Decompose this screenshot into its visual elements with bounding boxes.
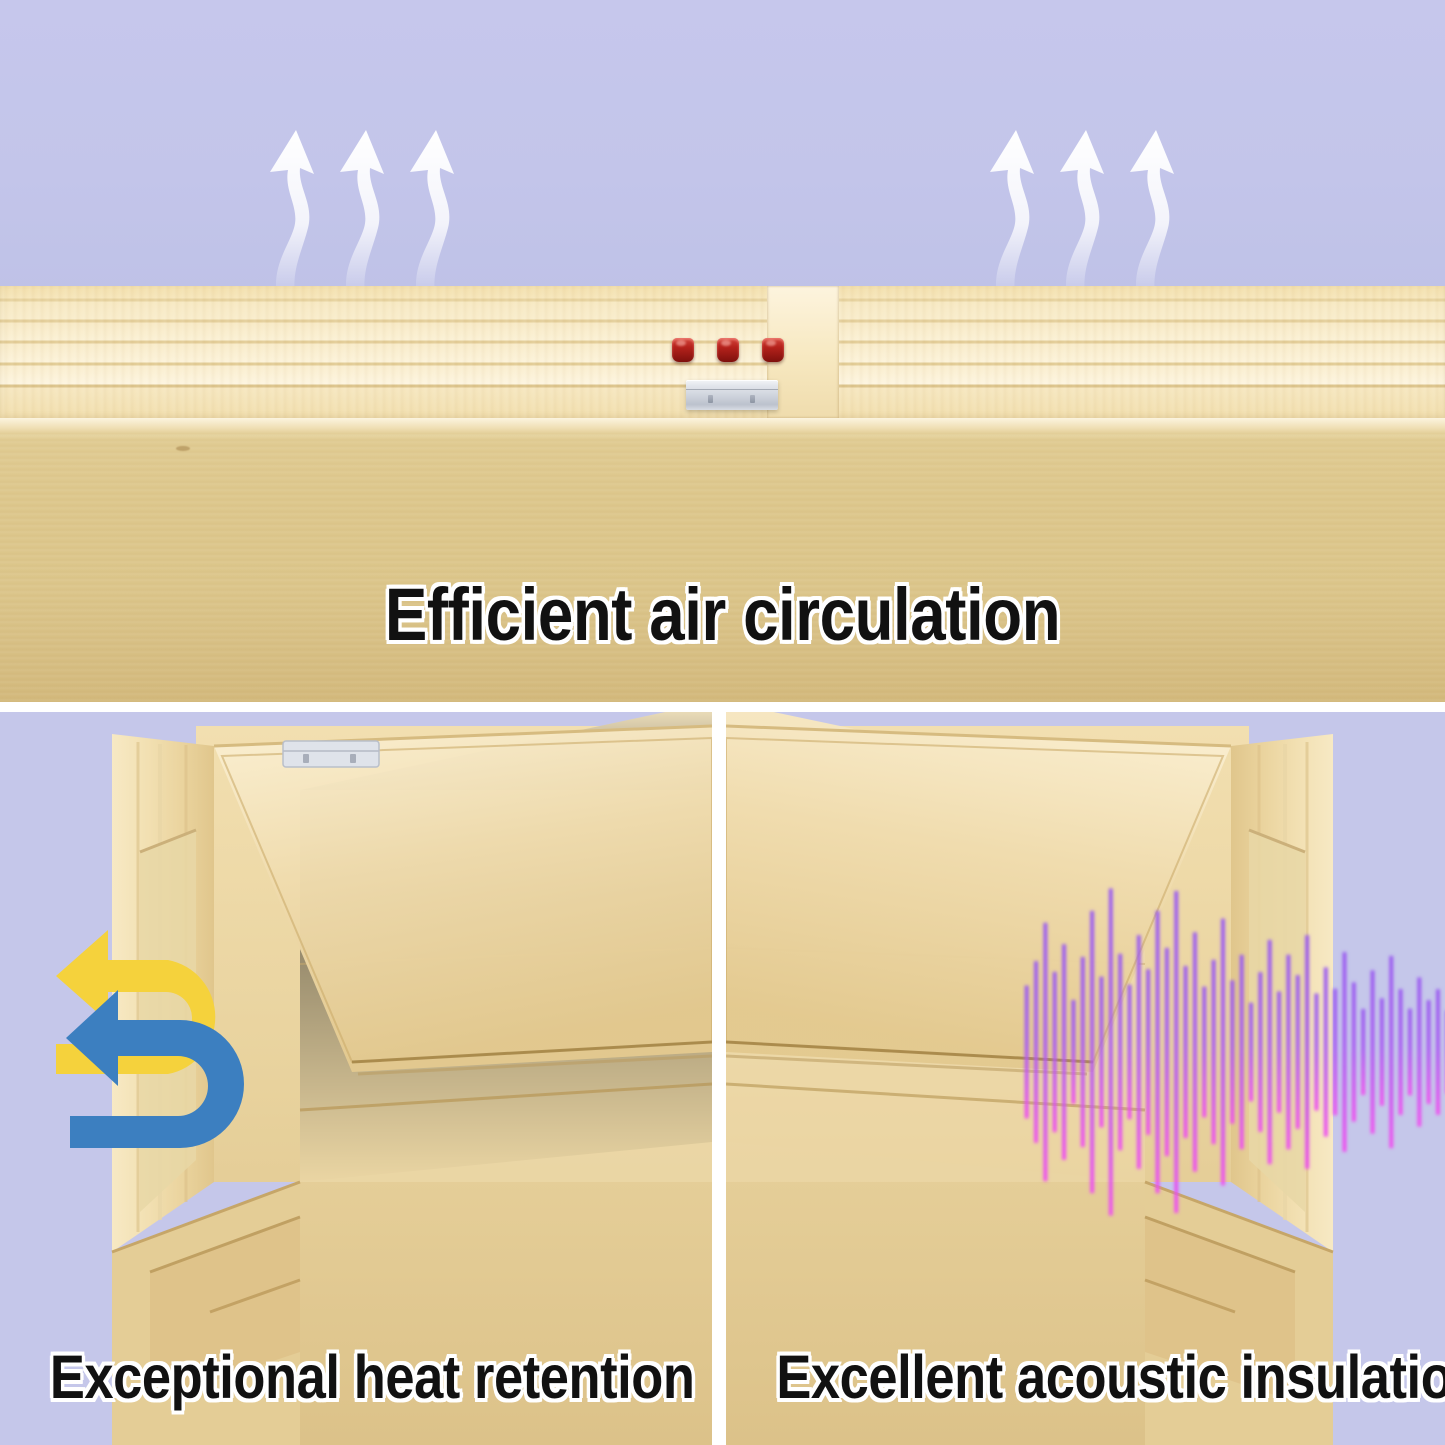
sound-wave-bar — [1109, 888, 1113, 1215]
wood-knot-mark — [176, 446, 190, 451]
sound-wave-bar — [1305, 935, 1309, 1169]
sound-wave-bar — [1240, 955, 1244, 1149]
red-led-indicator — [672, 338, 694, 362]
sound-wave-bar — [1258, 972, 1262, 1132]
sound-wave-bar — [1081, 957, 1085, 1147]
sound-wave-bar — [1090, 911, 1094, 1193]
sound-wave-bar — [1352, 982, 1356, 1121]
sound-wave-bar — [1427, 1000, 1431, 1104]
sound-wave-bar — [1408, 1009, 1412, 1096]
sound-wave-bar — [1417, 977, 1421, 1126]
bracket-screw — [708, 395, 713, 403]
sound-wave-bar — [1286, 955, 1290, 1150]
rising-air-arrows-right — [972, 96, 1222, 301]
sound-wave-bar — [1062, 944, 1066, 1160]
sound-wave-bar — [1193, 932, 1197, 1171]
sound-wave-bar — [1399, 989, 1403, 1115]
sound-wave-bar — [1043, 923, 1047, 1181]
sound-wave-bar — [1137, 935, 1141, 1169]
metal-bracket-plate — [283, 741, 379, 767]
sound-wave-bar — [1156, 911, 1160, 1193]
sound-wave-bar — [1118, 954, 1122, 1150]
sound-wave-bar — [1371, 970, 1375, 1133]
sound-wave-bar — [1212, 960, 1216, 1144]
sound-wave-bar — [1268, 940, 1272, 1164]
circulating-heat-arrows — [48, 908, 288, 1168]
sound-wave-bar — [1221, 919, 1225, 1186]
sound-wave-bar — [1277, 991, 1281, 1112]
sound-wave-bar — [1343, 952, 1347, 1152]
sound-wave-bar — [1034, 961, 1038, 1143]
sound-wave-bar — [1389, 956, 1393, 1148]
caption-acoustic-insulation: Excellent acoustic insulation — [776, 1347, 1394, 1408]
sound-wave-bar — [1025, 986, 1029, 1119]
panel-divider-vertical — [712, 702, 726, 1445]
rising-air-arrows-left — [252, 96, 502, 301]
sound-wave-bar — [1099, 977, 1103, 1128]
sound-wave-bar — [1128, 985, 1132, 1120]
sound-wave-bar — [1165, 948, 1169, 1156]
red-led-indicators — [672, 338, 792, 364]
cabinet-front-face — [0, 418, 1445, 702]
panel-heat-retention — [0, 712, 712, 1445]
sound-wave-bar — [1230, 980, 1234, 1123]
sound-wave-bar — [1314, 993, 1318, 1110]
sound-wave-bar — [1146, 969, 1150, 1135]
sound-wave-bar — [1249, 1003, 1253, 1102]
panel-background — [0, 0, 1445, 292]
cabinet-front-top-edge — [0, 418, 1445, 434]
metal-bracket-plate — [686, 380, 778, 410]
infographic-canvas: Efficient air circulation — [0, 0, 1445, 1445]
panel-acoustic-insulation — [726, 712, 1445, 1445]
sound-wave-bar — [1184, 966, 1188, 1138]
sound-wave-bars — [1022, 862, 1445, 1242]
bracket-screw — [750, 395, 755, 403]
sound-wave-bar — [1202, 987, 1206, 1118]
sound-wave-bar — [1071, 1000, 1075, 1104]
sound-wave-bar — [1436, 989, 1440, 1115]
caption-air-circulation: Efficient air circulation — [101, 578, 1344, 652]
sound-wave-bar — [1380, 998, 1384, 1105]
sound-wave-bar — [1361, 1009, 1365, 1095]
red-led-indicator — [762, 338, 784, 362]
sound-wave-bar — [1324, 967, 1328, 1136]
sound-wave-bar — [1174, 891, 1178, 1213]
sound-wave-bar — [1333, 989, 1337, 1116]
red-led-indicator — [717, 338, 739, 362]
sound-wave-bar — [1053, 972, 1057, 1132]
sound-wave-bar — [1296, 975, 1300, 1129]
caption-heat-retention: Exceptional heat retention — [50, 1347, 662, 1408]
